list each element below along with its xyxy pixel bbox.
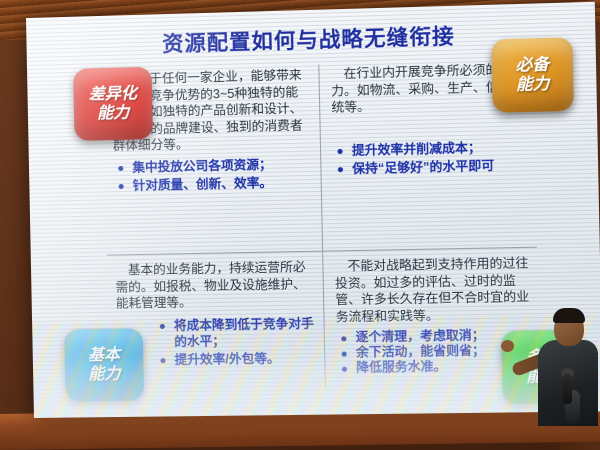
presenter-person bbox=[514, 304, 600, 424]
badge-differentiating-capabilities: 差异化 能力 bbox=[73, 67, 153, 141]
badge-line-2: 能力 bbox=[516, 75, 550, 95]
quadrant-bullet-list: 将成本降到低于竞争对手的水平； 提升效率/外包等。 bbox=[155, 315, 317, 368]
presenter-hair bbox=[553, 308, 585, 323]
bullet-item: 集中投放公司各项资源； bbox=[113, 155, 312, 176]
badge-must-have-capabilities: 必备 能力 bbox=[491, 37, 574, 113]
badge-line-2: 能力 bbox=[88, 365, 121, 384]
badge-line-1: 基本 bbox=[88, 346, 121, 366]
badge-line-1: 必备 bbox=[515, 55, 549, 75]
badge-line-2: 能力 bbox=[97, 104, 130, 124]
quadrant-bullet-list: 集中投放公司各项资源； 针对质量、创新、效率。 bbox=[113, 155, 313, 194]
badge-line-1: 差异化 bbox=[88, 84, 137, 104]
microphone-icon bbox=[563, 374, 572, 404]
bullet-item: 提升效率并削减成本； bbox=[332, 138, 531, 159]
bullet-item: 保持“足够好”的水平即可 bbox=[333, 156, 532, 177]
bullet-item: 针对质量、创新、效率。 bbox=[113, 173, 312, 193]
four-quadrant-matrix: 有别于任何一家企业，能够带来可持续竞争优势的3~5种独特的能力。例如独特的产品创… bbox=[103, 57, 540, 391]
bullet-item: 提升效率/外包等。 bbox=[155, 349, 316, 367]
quadrant-paragraph: 基本的业务能力，持续运营所必需的。如报税、物业及设施维护、能耗管理等。 bbox=[115, 259, 315, 312]
badge-basic-capabilities: 基本 能力 bbox=[64, 328, 144, 401]
bullet-item: 将成本降到低于竞争对手的水平； bbox=[155, 315, 316, 350]
quadrant-paragraph: 不能对战略起到支持作用的过往投资。如过多的评估、过时的监管、许多长久存在但不合时… bbox=[335, 255, 535, 325]
presenter-hand bbox=[501, 340, 514, 352]
quadrant-bullet-list: 提升效率并削减成本； 保持“足够好”的水平即可 bbox=[332, 138, 531, 177]
